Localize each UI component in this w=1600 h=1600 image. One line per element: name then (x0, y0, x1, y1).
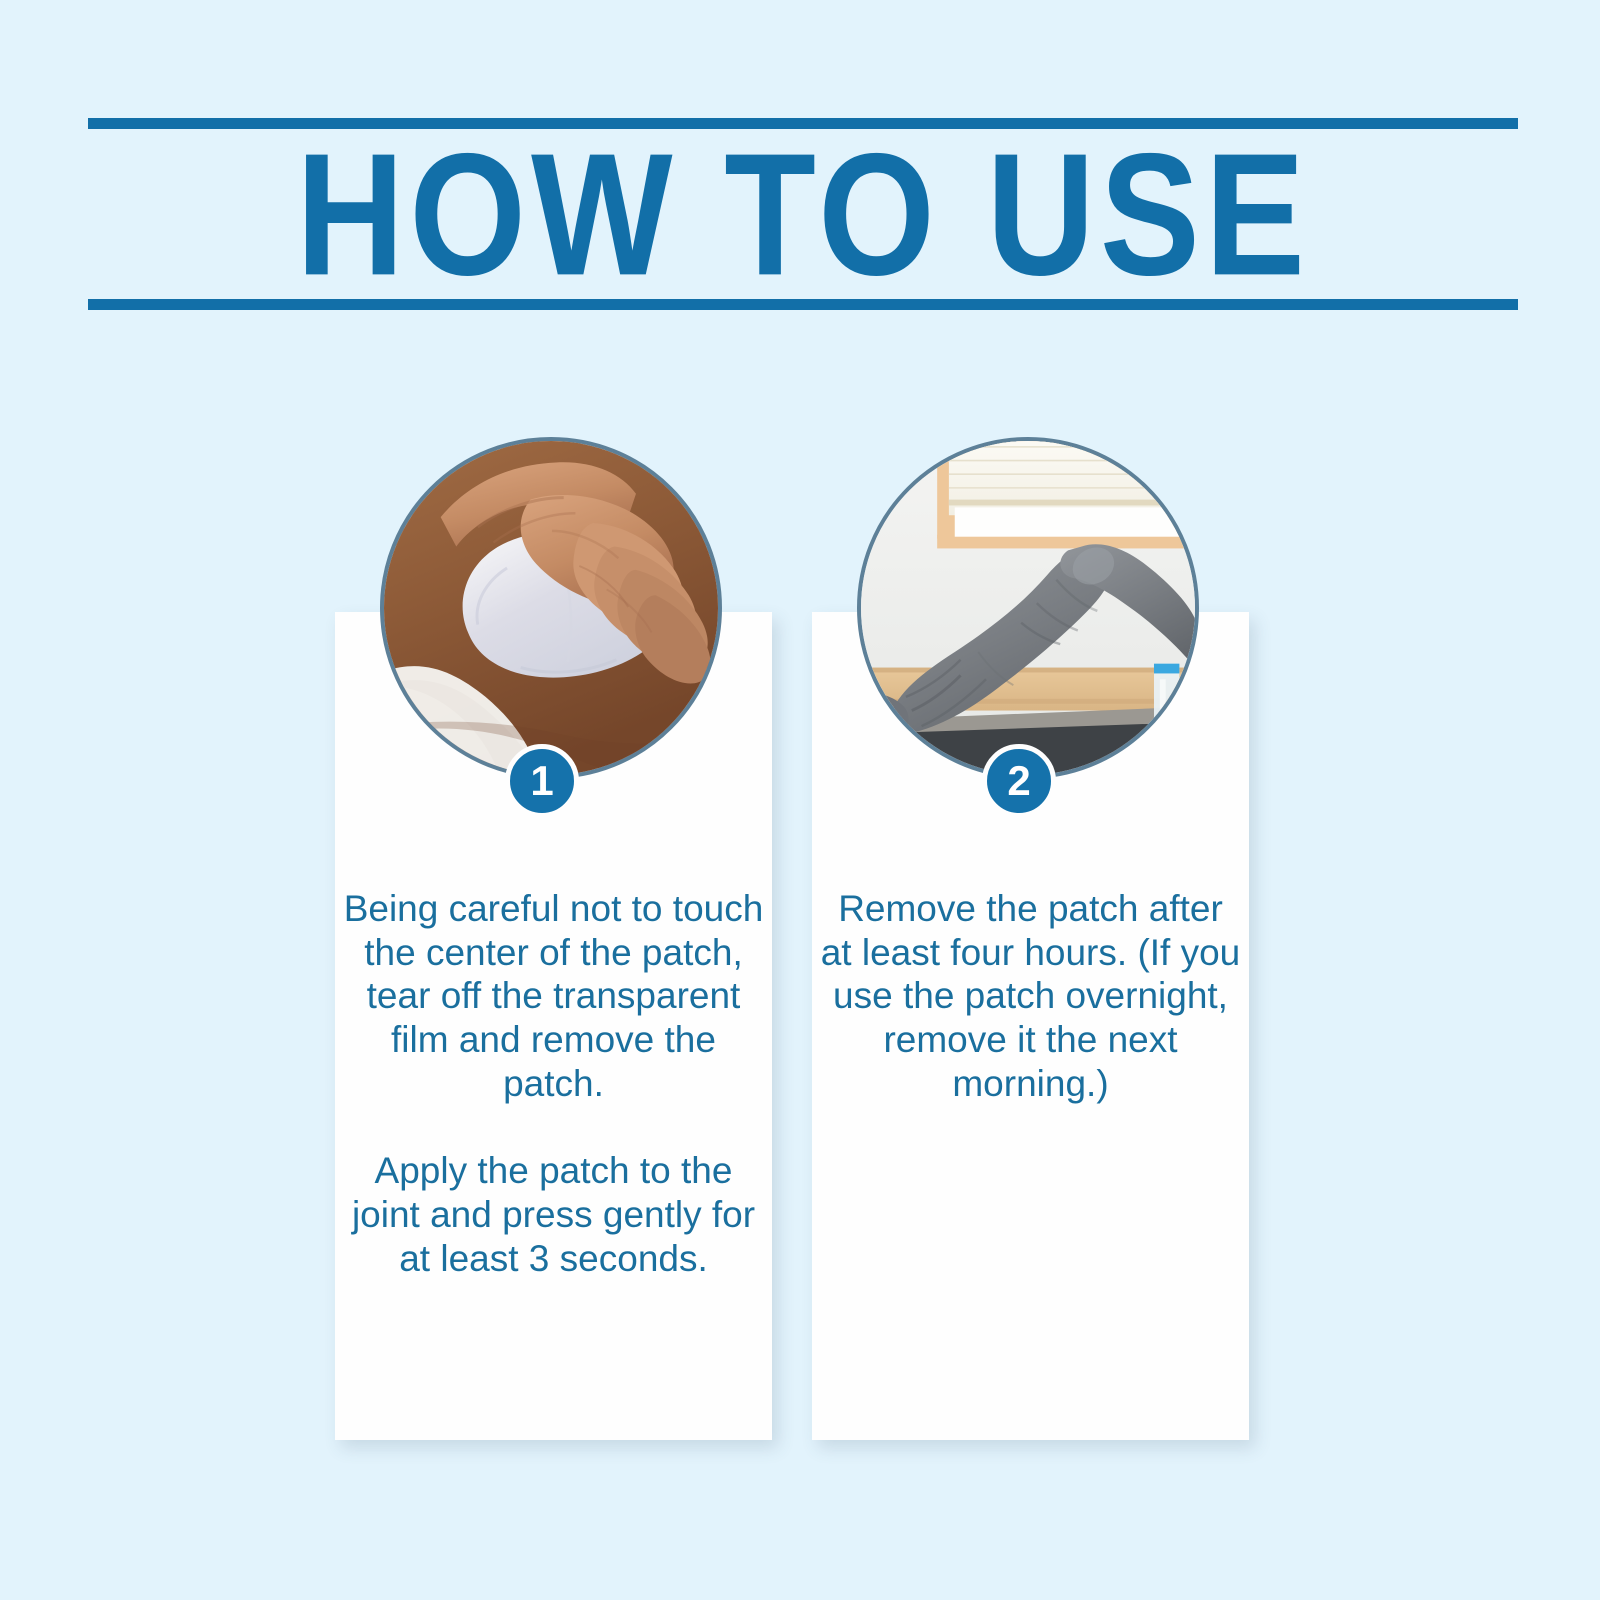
step-2-photo (857, 437, 1199, 779)
step-2-badge: 2 (982, 744, 1056, 818)
step-1-paragraph-1: Being careful not to touch the center of… (343, 887, 764, 1105)
hand-pressing-patch-illustration (384, 441, 718, 775)
step-1-badge: 1 (505, 744, 579, 818)
step-1-paragraph-2: Apply the patch to the joint and press g… (343, 1149, 764, 1280)
step-2-paragraph-1: Remove the patch after at least four hou… (820, 887, 1241, 1105)
person-resting-knees-bent-illustration (861, 441, 1195, 775)
steps-container: Being careful not to touch the center of… (0, 0, 1600, 1600)
step-2-text: Remove the patch after at least four hou… (820, 887, 1241, 1105)
step-1-photo (380, 437, 722, 779)
step-1-text: Being careful not to touch the center of… (343, 887, 764, 1280)
